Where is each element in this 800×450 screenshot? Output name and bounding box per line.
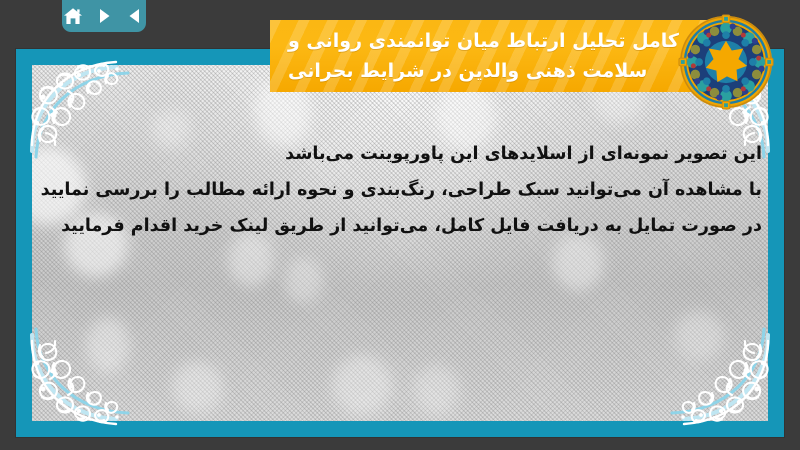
body-line-2: با مشاهده آن می‌توانید سبک طراحی، رنگ‌بن… xyxy=(40,172,762,208)
page-title-line-1: کامل تحلیل ارتباط میان توانمندی روانی و xyxy=(288,26,679,56)
previous-slide-icon[interactable] xyxy=(124,5,146,27)
page-title-line-2: سلامت ذهنی والدین در شرایط بحرانی xyxy=(288,56,647,86)
filigree-corner-ornament-icon xyxy=(16,325,134,437)
home-icon[interactable] xyxy=(62,5,84,27)
body-line-3: در صورت تمایل به دریافت فایل کامل، می‌تو… xyxy=(40,208,762,244)
next-slide-icon[interactable] xyxy=(93,5,115,27)
bokeh-circle xyxy=(414,365,460,415)
slide-title-banner: کامل تحلیل ارتباط میان توانمندی روانی و … xyxy=(270,20,728,92)
bokeh-circle xyxy=(172,361,224,413)
body-line-1: این تصویر نمونه‌ای از اسلایدهای این پاور… xyxy=(40,136,762,172)
slide-body-text: این تصویر نمونه‌ای از اسلایدهای این پاور… xyxy=(40,136,762,244)
bokeh-circle xyxy=(332,355,392,415)
slide-viewer: کامل تحلیل ارتباط میان توانمندی روانی و … xyxy=(0,0,800,450)
bokeh-circle xyxy=(284,257,324,303)
slide-navigation-bar xyxy=(62,0,146,32)
persian-mandala-medallion-icon xyxy=(678,14,774,110)
filigree-corner-ornament-icon xyxy=(666,325,784,437)
